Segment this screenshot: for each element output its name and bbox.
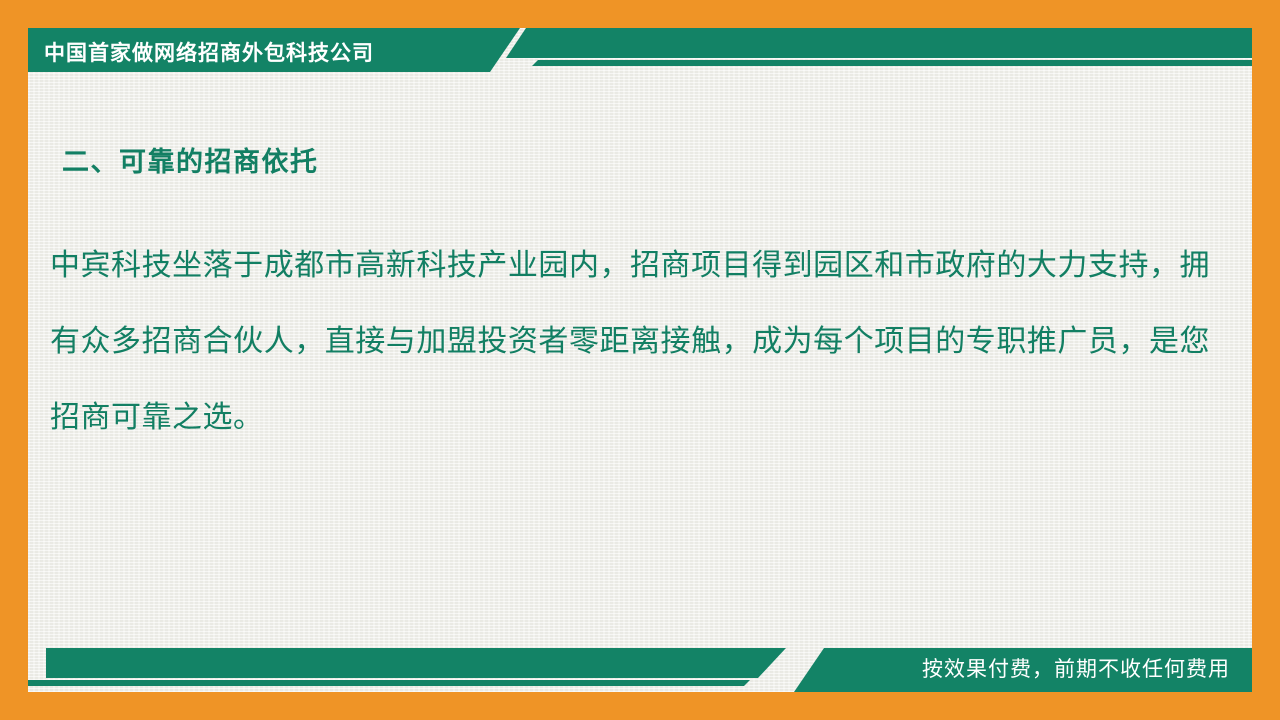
header-banner: 中国首家做网络招商外包科技公司	[28, 28, 1252, 72]
section-paragraph: 中宾科技坐落于成都市高新科技产业园内，招商项目得到园区和市政府的大力支持，拥有众…	[50, 228, 1210, 456]
footer-banner: 按效果付费，前期不收任何费用	[28, 648, 1252, 692]
footer-green-bar	[46, 648, 786, 678]
slide: 中国首家做网络招商外包科技公司 二、可靠的招商依托 中宾科技坐落于成都市高新科技…	[0, 0, 1280, 720]
header-green-underline	[532, 60, 1252, 66]
header-green-bar	[506, 28, 1252, 58]
footer-text: 按效果付费，前期不收任何费用	[922, 653, 1230, 683]
footer-green-underline	[28, 680, 750, 686]
section-heading: 二、可靠的招商依托	[62, 140, 319, 179]
header-title: 中国首家做网络招商外包科技公司	[44, 37, 374, 67]
slide-canvas: 中国首家做网络招商外包科技公司 二、可靠的招商依托 中宾科技坐落于成都市高新科技…	[28, 28, 1252, 692]
